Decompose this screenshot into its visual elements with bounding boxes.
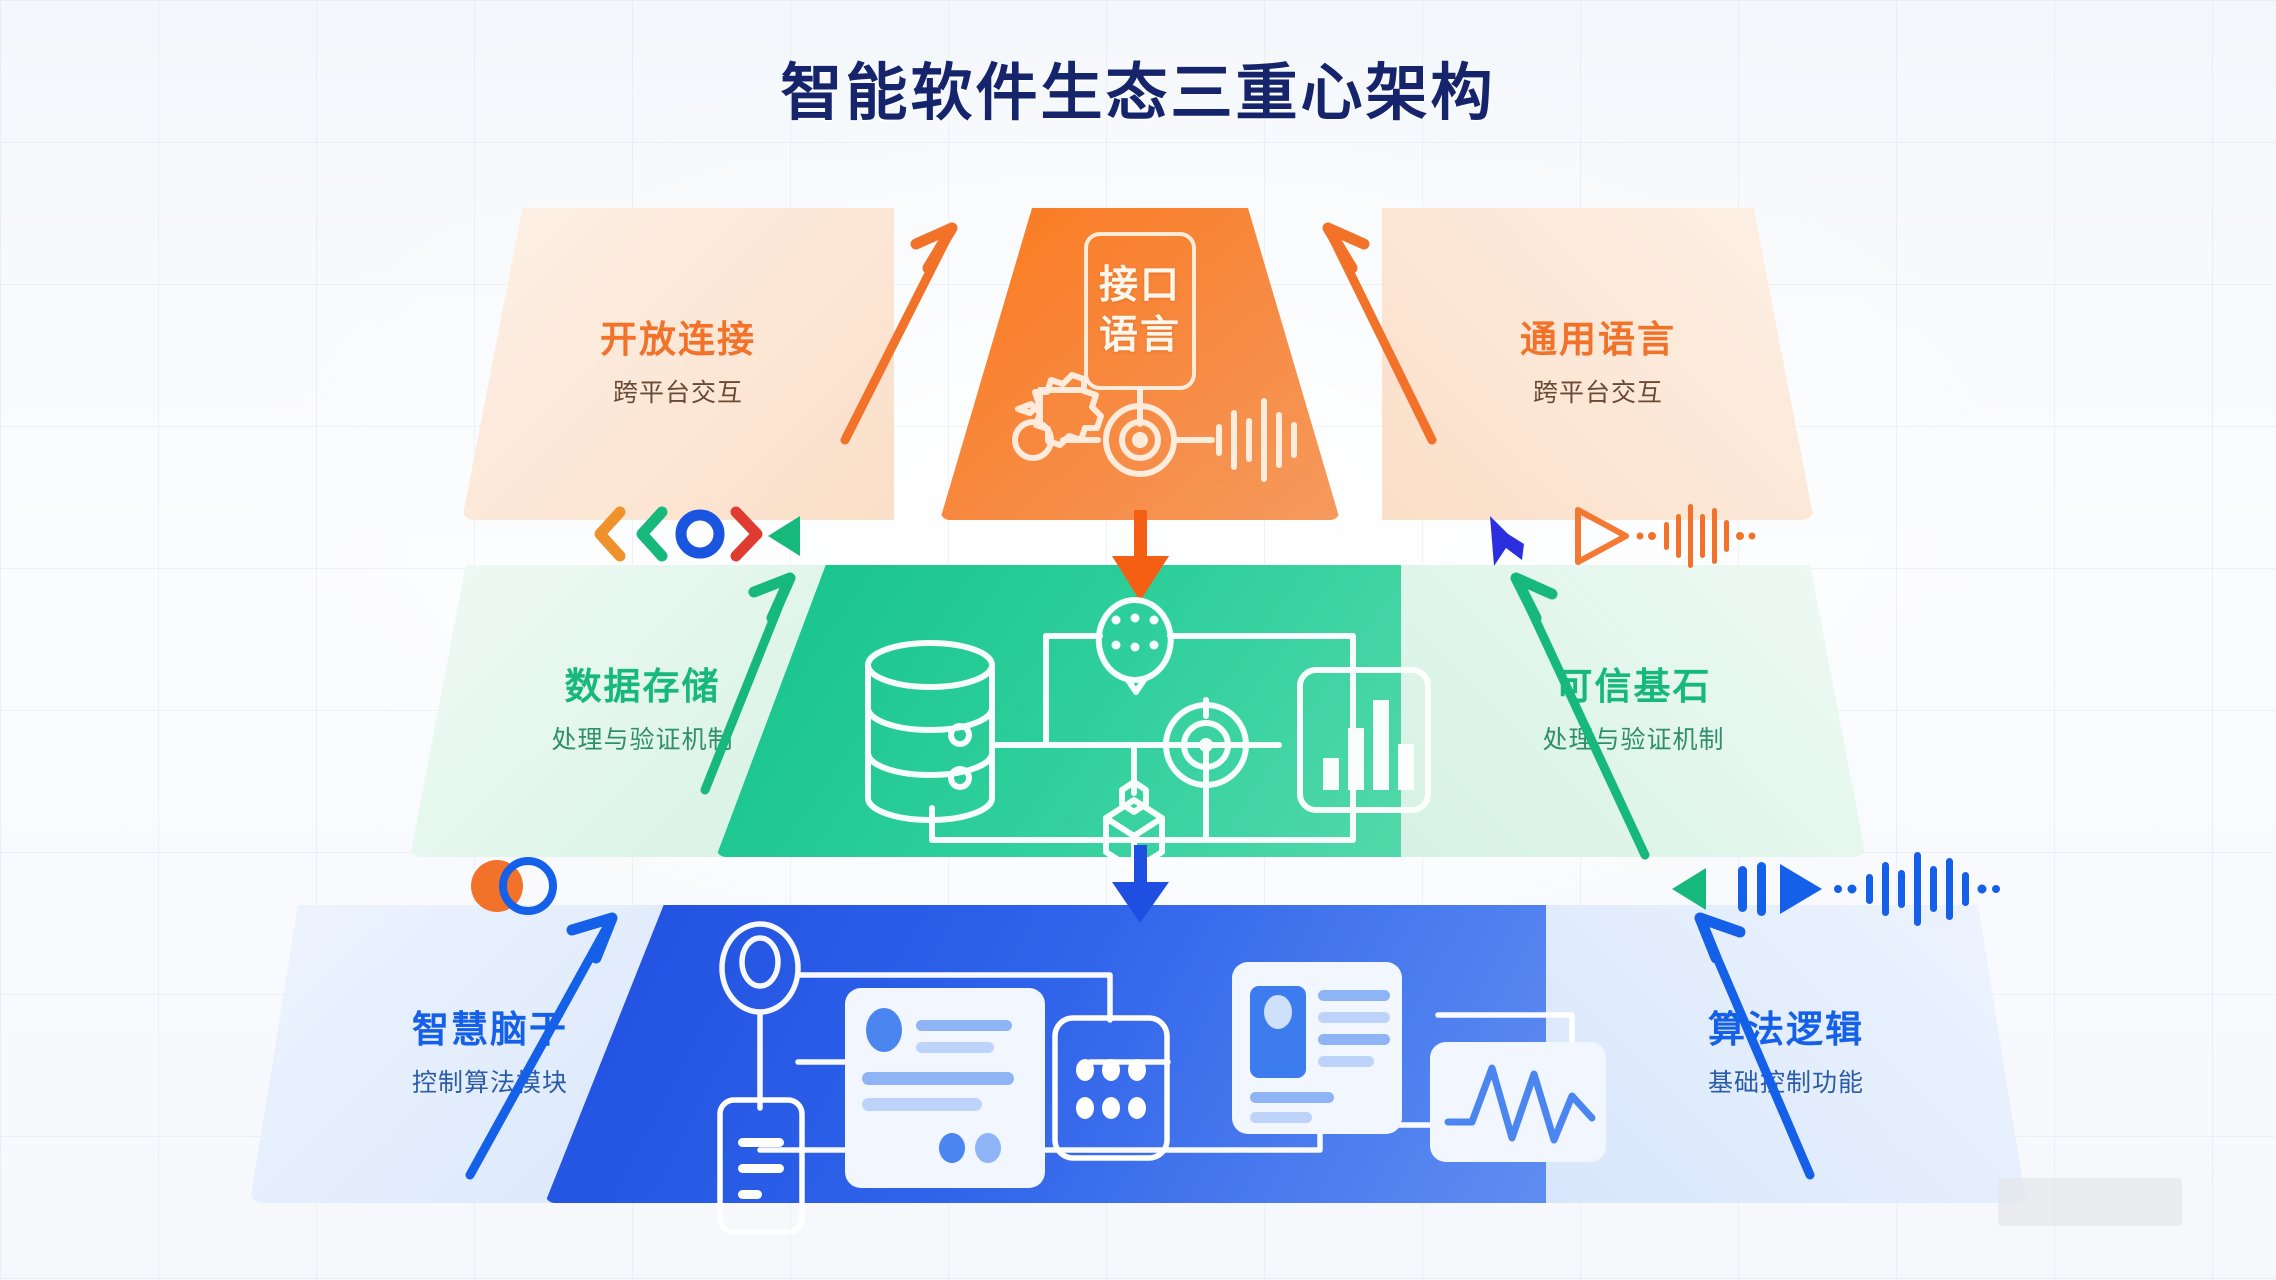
panel-open-connection-subtitle: 跨平台交互 [613, 373, 743, 409]
panel-open-connection[interactable]: 开放连接 跨平台交互 [462, 208, 894, 520]
layer-bottom: 智慧脑干 控制算法模块 算法逻辑 基础控制功能 [0, 905, 2276, 1203]
corner-watermark [1998, 1178, 2182, 1226]
panel-open-connection-title: 开放连接 [600, 319, 756, 362]
cursor-arrow-blue-icon [1490, 516, 1524, 566]
interface-badge-line1: 接口 [1099, 261, 1181, 311]
layer-middle: 数据存储 处理与验证机制 可信基石 处理与验证机制 [0, 565, 2276, 857]
panel-universal-language-subtitle: 跨平台交互 [1533, 373, 1663, 409]
panel-data-storage-subtitle: 处理与验证机制 [551, 720, 733, 756]
panel-data-storage-title: 数据存储 [565, 666, 721, 709]
panel-trusted-foundation-title: 可信基石 [1556, 666, 1712, 709]
panel-universal-language-title: 通用语言 [1520, 319, 1676, 362]
panel-smart-brainstem-subtitle: 控制算法模块 [412, 1063, 568, 1099]
panel-smart-brainstem-title: 智慧脑干 [412, 1009, 568, 1052]
triangle-left-green-icon-2 [1672, 868, 1706, 910]
panel-algorithm-logic-title: 算法逻辑 [1708, 1009, 1864, 1052]
panel-trusted-foundation-subtitle: 处理与验证机制 [1542, 720, 1724, 756]
diagram-stage: 智能软件生态三重心架构 开放连接 跨平台交互 通用语言 跨平台交互 接口 语言 … [0, 0, 2276, 1280]
panel-trusted-foundation[interactable]: 可信基石 处理与验证机制 [1401, 565, 1866, 857]
panel-algorithm-logic-subtitle: 基础控制功能 [1708, 1063, 1864, 1099]
interface-language-badge: 接口 语言 [1084, 232, 1196, 390]
triangle-left-green-icon [768, 516, 800, 556]
page-title: 智能软件生态三重心架构 [0, 42, 2276, 132]
interface-badge-line2: 语言 [1099, 311, 1181, 361]
panel-algorithm-logic[interactable]: 算法逻辑 基础控制功能 [1546, 905, 2026, 1203]
panel-universal-language[interactable]: 通用语言 跨平台交互 [1382, 208, 1814, 520]
